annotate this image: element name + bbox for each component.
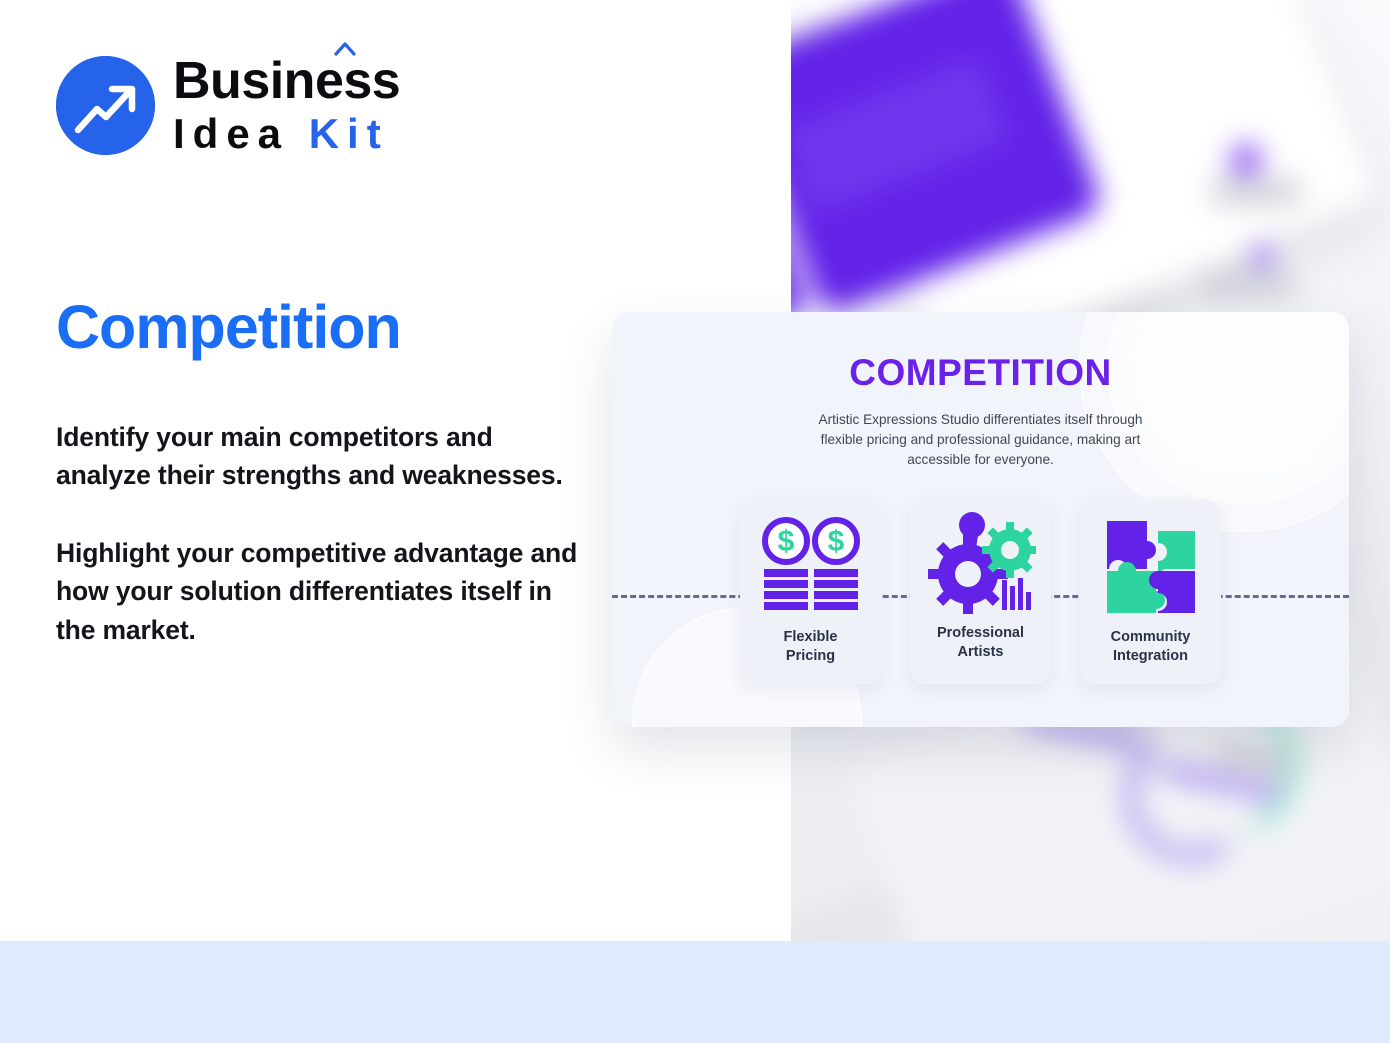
svg-text:$: $ — [777, 525, 794, 558]
tile-label-line-2: Integration — [1113, 648, 1188, 664]
feature-tiles: $ $ — [612, 500, 1349, 684]
tile-label-line-1: Community — [1111, 629, 1191, 645]
background-dot-2 — [1251, 245, 1273, 267]
gear-small-icon — [982, 522, 1036, 578]
bar-chart-icon — [1002, 578, 1031, 610]
paragraph-2: Highlight your competitive advantage and… — [56, 534, 586, 648]
feature-tile-label: Community Integration — [1111, 628, 1191, 666]
feature-tile-label: Professional Artists — [937, 624, 1024, 662]
card-title: COMPETITION — [612, 352, 1349, 394]
growth-arrow-icon — [56, 56, 155, 155]
feature-tile-community-integration[interactable]: Community Integration — [1080, 500, 1221, 684]
brand-idea-text: Idea — [173, 110, 289, 157]
slide-root: Business Idea Kit Competition Identify y… — [0, 0, 1390, 1043]
body-copy: Identify your main competitors and analy… — [56, 418, 586, 649]
puzzle-pieces-icon — [1101, 514, 1201, 620]
tile-label-line-2: Artists — [958, 644, 1004, 660]
brand-name-line-1: Business — [173, 55, 400, 107]
competition-slide-card[interactable]: COMPETITION Artistic Expressions Studio … — [612, 312, 1349, 727]
tile-label-line-1: Professional — [937, 625, 1024, 641]
svg-text:$: $ — [827, 525, 844, 558]
circumflex-accent-icon — [334, 42, 356, 56]
page-title: Competition — [56, 295, 401, 359]
brand-name-text: Business — [173, 52, 400, 110]
tile-label-line-2: Pricing — [786, 648, 835, 664]
feature-tile-flexible-pricing[interactable]: $ $ — [740, 500, 881, 684]
brand-kit-text: Kit — [309, 110, 389, 157]
background-dot-1 — [1231, 145, 1261, 175]
card-subtitle: Artistic Expressions Studio differentiat… — [801, 410, 1161, 470]
coin-stacks-icon: $ $ — [760, 514, 862, 620]
background-label-2 — [1201, 275, 1296, 297]
feature-tile-professional-artists[interactable]: Professional Artists — [910, 500, 1051, 684]
bottom-band — [0, 941, 1390, 1043]
tile-label-line-1: Flexible — [784, 629, 838, 645]
card-content: COMPETITION Artistic Expressions Studio … — [612, 352, 1349, 470]
brand-wordmark: Business Idea Kit — [173, 55, 400, 155]
gears-lightbulb-chart-icon — [926, 510, 1036, 616]
feature-tile-label: Flexible Pricing — [784, 628, 838, 666]
brand-name-line-2: Idea Kit — [173, 113, 400, 155]
paragraph-1: Identify your main competitors and analy… — [56, 418, 586, 494]
background-label-1 — [1211, 180, 1301, 204]
brand-logo[interactable]: Business Idea Kit — [56, 55, 400, 155]
